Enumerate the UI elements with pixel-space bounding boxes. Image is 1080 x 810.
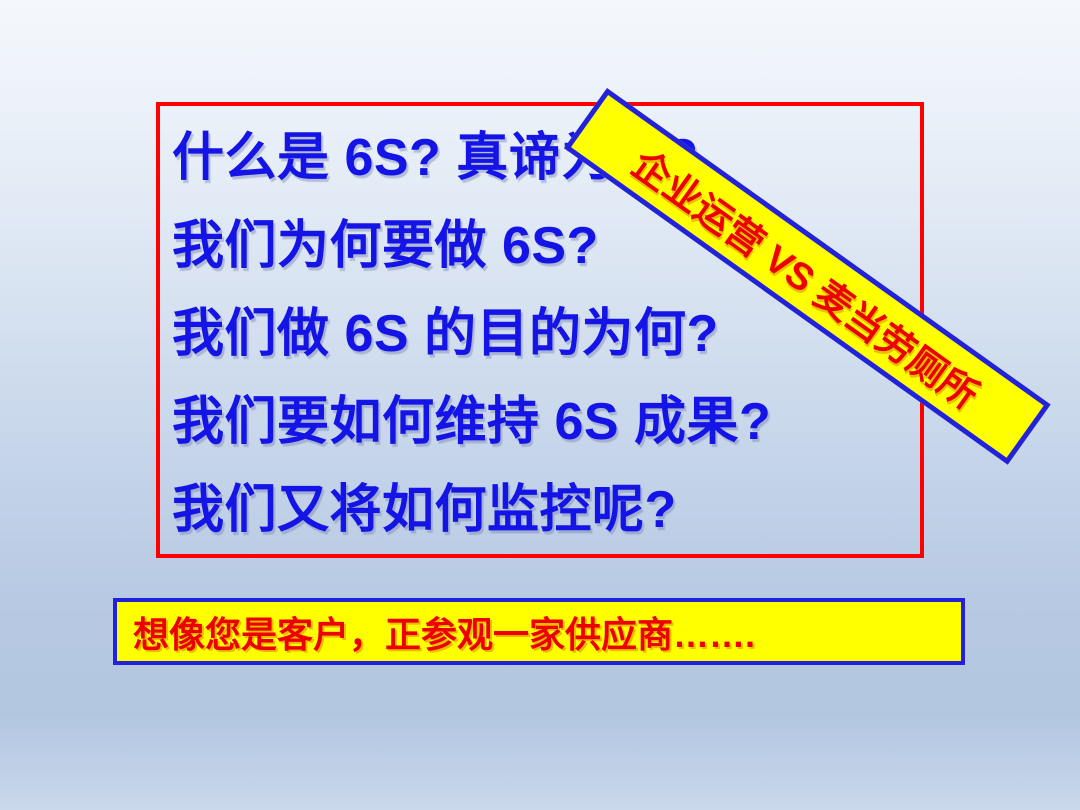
question-box: 什么是 6S? 真谛为何? 我们为何要做 6S? 我们做 6S 的目的为何? 我…: [156, 102, 924, 558]
bottom-banner-label: 想像您是客户，正参观一家供应商…….: [117, 606, 755, 658]
question-line-2: 我们为何要做 6S?: [172, 210, 1072, 298]
question-line-5: 我们又将如何监控呢?: [172, 474, 1072, 562]
presentation-slide: 什么是 6S? 真谛为何? 我们为何要做 6S? 我们做 6S 的目的为何? 我…: [0, 0, 1080, 810]
bottom-callout-banner: 想像您是客户，正参观一家供应商…….: [113, 598, 965, 665]
